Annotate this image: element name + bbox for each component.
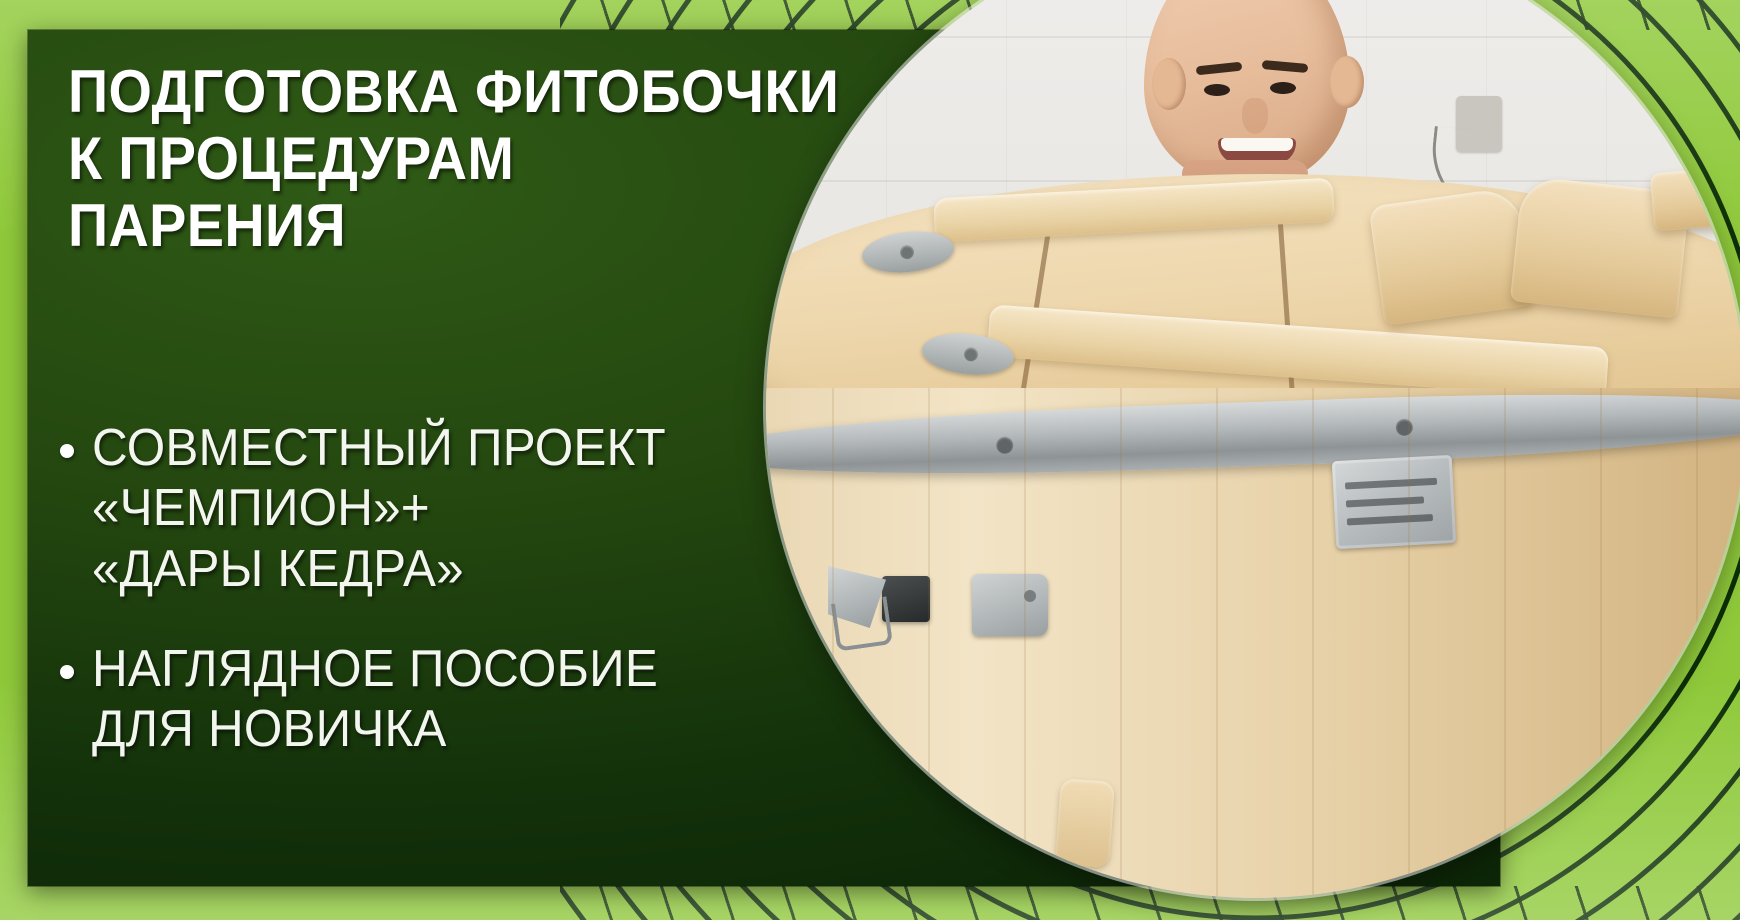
- teeth: [1221, 138, 1293, 151]
- page-title: ПОДГОТОВКА ФИТОБОЧКИ К ПРОЦЕДУРАМ ПАРЕНИ…: [68, 58, 886, 260]
- lid-edge-block: [1650, 162, 1740, 231]
- barrel-latch: [828, 556, 920, 652]
- hoop-bolt: [1396, 419, 1414, 437]
- thumbnail-canvas: ПОДГОТОВКА ФИТОБОЧКИ К ПРОЦЕДУРАМ ПАРЕНИ…: [0, 0, 1740, 920]
- hoop-bolt: [996, 436, 1014, 454]
- hinge-screw: [963, 347, 978, 362]
- list-item: НАГЛЯДНОЕ ПОСОБИЕ ДЛЯ НОВИЧКА: [60, 639, 880, 760]
- lid-hinge: [860, 227, 956, 276]
- bullet-list: СОВМЕСТНЫЙ ПРОЕКТ «ЧЕМПИОН»+ «ДАРЫ КЕДРА…: [60, 418, 880, 800]
- latch-hook: [828, 566, 886, 628]
- nose: [1242, 98, 1268, 134]
- ear-right: [1330, 56, 1364, 108]
- wooden-peg: [1055, 778, 1115, 868]
- barrel-nameplate: [1332, 455, 1456, 549]
- ear-left: [1152, 58, 1186, 110]
- bullet-dot-icon: [60, 665, 74, 679]
- bullet-text: НАГЛЯДНОЕ ПОСОБИЕ ДЛЯ НОВИЧКА: [92, 639, 658, 760]
- steel-hoop: [766, 382, 1740, 485]
- head: [1144, 0, 1350, 186]
- latch-catch: [882, 576, 930, 622]
- list-item: СОВМЕСТНЫЙ ПРОЕКТ «ЧЕМПИОН»+ «ДАРЫ КЕДРА…: [60, 418, 880, 599]
- barrel-body: [766, 388, 1740, 898]
- nameplate-engraving: [1347, 514, 1433, 525]
- nameplate-engraving: [1346, 496, 1424, 507]
- hinge-screw: [899, 244, 914, 259]
- headrest-block: [1368, 186, 1533, 326]
- bullet-dot-icon: [60, 444, 74, 458]
- photo-content: [766, 0, 1740, 898]
- latch-wire: [831, 596, 893, 651]
- eyebrow-right: [1262, 60, 1309, 73]
- latch-keeper: [972, 574, 1048, 636]
- circular-photo: [766, 0, 1740, 898]
- nameplate-engraving: [1345, 478, 1437, 490]
- eye-right: [1270, 82, 1296, 94]
- lid-plank: [987, 304, 1609, 399]
- bullet-text: СОВМЕСТНЫЙ ПРОЕКТ «ЧЕМПИОН»+ «ДАРЫ КЕДРА…: [92, 418, 666, 599]
- eyebrow-left: [1196, 62, 1243, 76]
- eye-left: [1204, 84, 1230, 96]
